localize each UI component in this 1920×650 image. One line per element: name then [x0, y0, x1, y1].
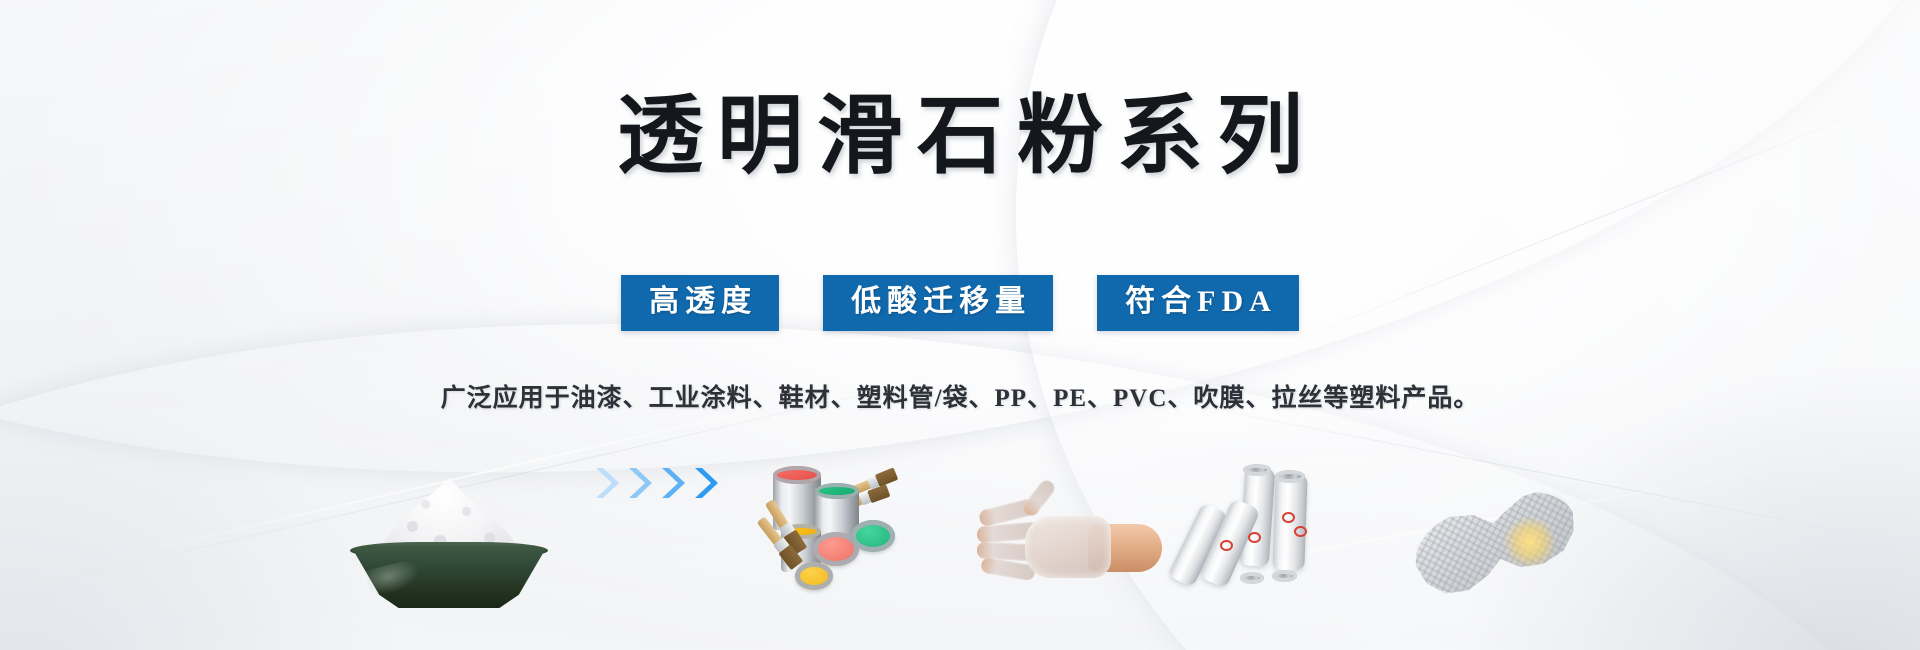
film-roll-core-back-left: [1243, 464, 1271, 476]
film-roll-label-dot-3: [1282, 512, 1295, 523]
feature-badge-high-transparency[interactable]: 高透度: [621, 275, 779, 331]
banner-content: 透明滑石粉系列 高透度 低酸迁移量 符合FDA 广泛应用于油漆、工业涂料、鞋材、…: [0, 0, 1920, 650]
product-banner: 透明滑石粉系列 高透度 低酸迁移量 符合FDA 广泛应用于油漆、工业涂料、鞋材、…: [0, 0, 1920, 650]
process-flow-arrows: [592, 458, 721, 608]
product-film-rolls: [1198, 458, 1373, 608]
banner-subtitle: 广泛应用于油漆、工业涂料、鞋材、塑料管/袋、PP、PE、PVC、吹膜、拉丝等塑料…: [0, 378, 1920, 414]
glove-thumb: [1020, 477, 1057, 518]
chevron-right-icon-4: [691, 465, 721, 506]
paint-lid-yellow: [795, 562, 833, 590]
product-image-strip: [0, 458, 1920, 608]
film-roll-core-back-right: [1275, 470, 1305, 483]
film-rolls-illustration: [1198, 468, 1373, 608]
chevron-right-icon-2: [625, 465, 655, 506]
shoe-sole-illustration: [1407, 483, 1582, 608]
chevron-right-icon-1: [592, 465, 622, 506]
chevron-arrow-group: [592, 410, 721, 608]
paint-can-green-surface: [815, 483, 859, 499]
shoe-sole-icon: [1404, 479, 1588, 610]
paint-cans-illustration: [755, 468, 945, 608]
shoe-sole-highlight: [1503, 517, 1557, 567]
feature-badge-fda-compliant[interactable]: 符合FDA: [1097, 275, 1299, 331]
product-talc-powder-bowl: [338, 458, 558, 608]
film-roll-label-dot-2: [1248, 532, 1261, 543]
feature-badge-row: 高透度 低酸迁移量 符合FDA: [0, 275, 1920, 331]
glove-palm-icon: [1025, 516, 1111, 578]
product-plastic-gloves: [979, 458, 1164, 608]
talc-bowl-illustration: [338, 478, 558, 608]
chevron-right-icon-3: [658, 465, 688, 506]
product-shoe-sole: [1407, 458, 1582, 608]
film-roll-label-dot-4: [1294, 526, 1307, 537]
film-roll-core-front-right: [1272, 570, 1297, 582]
gloved-hand-illustration: [979, 488, 1164, 608]
film-roll-label-dot-1: [1220, 540, 1233, 551]
banner-title: 透明滑石粉系列: [0, 88, 1920, 184]
paint-lid-green: [851, 520, 895, 552]
paint-can-red-surface: [773, 466, 821, 484]
product-paint-cans: [755, 458, 945, 608]
film-roll-core-front-left: [1240, 572, 1264, 584]
feature-badge-low-acid-migration[interactable]: 低酸迁移量: [823, 275, 1053, 331]
